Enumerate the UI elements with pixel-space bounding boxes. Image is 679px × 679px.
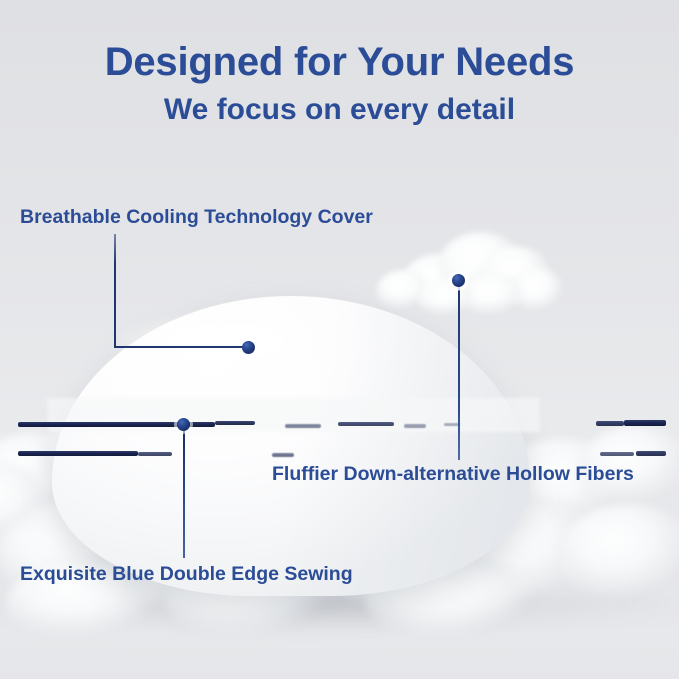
callout-dot-cover — [242, 341, 255, 354]
page-title: Designed for Your Needs — [0, 40, 679, 85]
stitch-upper-segment — [285, 424, 321, 428]
callout-label-fibers: Fluffier Down-alternative Hollow Fibers — [272, 465, 634, 485]
stitch-upper-segment — [596, 421, 624, 426]
hollow-fiber-tuft — [372, 228, 568, 314]
callout-leader-line-cover — [114, 346, 248, 348]
callout-leader-line-fibers — [458, 282, 460, 460]
stitch-lower-segment — [636, 451, 666, 456]
callout-dot-sewing — [177, 418, 190, 431]
stitch-lower-segment — [600, 452, 634, 456]
callout-label-cover: Breathable Cooling Technology Cover — [20, 208, 373, 228]
infographic-canvas: Designed for Your Needs We focus on ever… — [0, 0, 679, 679]
callout-dot-fibers — [452, 274, 465, 287]
callout-leader-line-sewing — [183, 426, 185, 558]
pillow-highlight — [110, 312, 400, 386]
stitch-upper-segment — [338, 422, 394, 426]
stitch-upper-segment — [215, 421, 255, 425]
stitch-lower-segment — [272, 453, 294, 457]
callout-leader-line-cover — [114, 234, 116, 348]
stitch-lower-segment — [18, 451, 138, 456]
page-subtitle: We focus on every detail — [0, 92, 679, 128]
callout-label-sewing: Exquisite Blue Double Edge Sewing — [20, 565, 353, 585]
stitch-lower-segment — [138, 452, 172, 456]
stitch-upper-segment — [404, 424, 426, 428]
stitch-upper-segment — [624, 420, 666, 426]
